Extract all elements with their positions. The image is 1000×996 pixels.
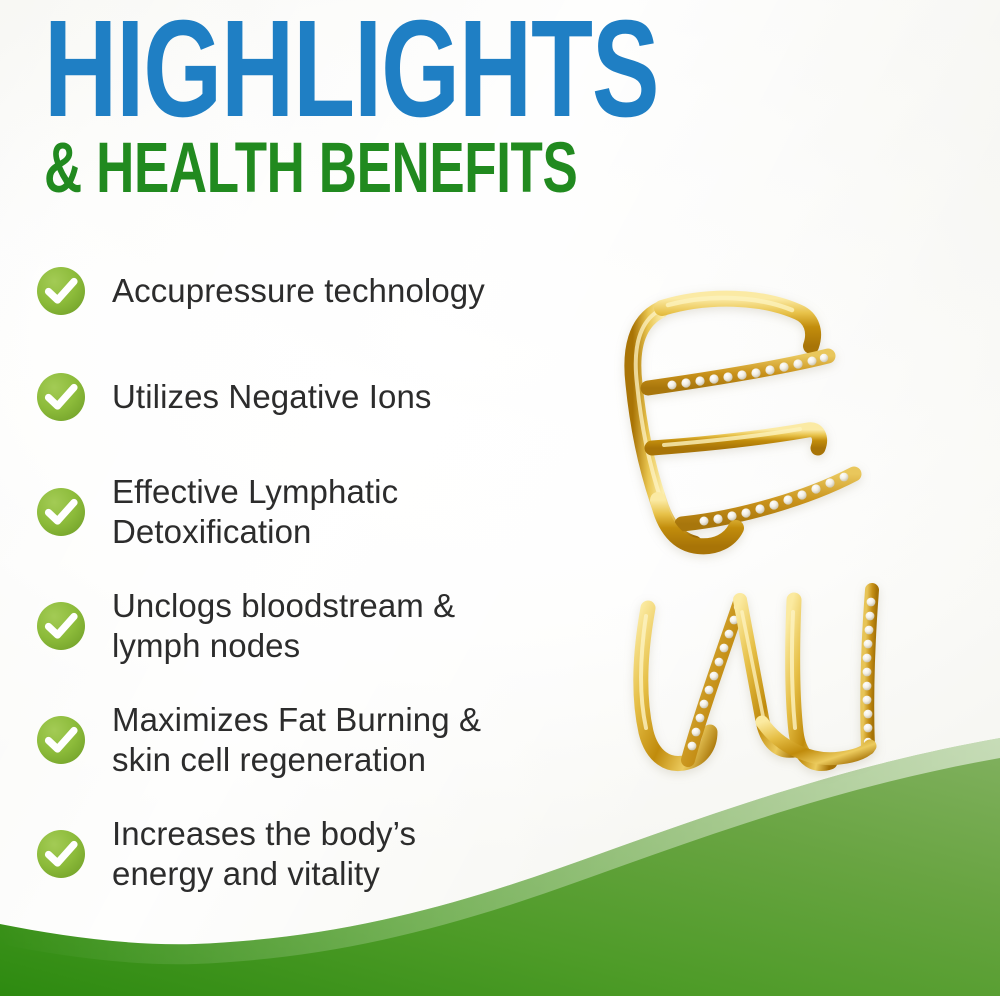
benefit-item: Increases the body’s energy and vitality <box>34 806 554 902</box>
product-highlights-poster: HIGHLIGHTS & HEALTH BENEFITS Accupressur… <box>0 0 1000 996</box>
check-circle-icon <box>36 487 86 537</box>
benefit-label: Accupressure technology <box>112 271 485 311</box>
benefits-list: Accupressure technology Utilizes Negativ… <box>34 252 554 920</box>
benefit-label: Maximizes Fat Burning & skin cell regene… <box>112 700 481 781</box>
benefit-item: Effective Lymphatic Detoxification <box>34 464 554 560</box>
check-circle-icon <box>36 266 86 316</box>
benefit-item: Accupressure technology <box>34 252 554 330</box>
benefit-item: Utilizes Negative Ions <box>34 358 554 436</box>
benefit-item: Maximizes Fat Burning & skin cell regene… <box>34 692 554 788</box>
product-image-gold-ear-cuff-triple-bar <box>612 288 892 558</box>
poster-heading: HIGHLIGHTS & HEALTH BENEFITS <box>44 14 684 199</box>
product-image-gold-ear-cuff-zigzag <box>616 572 916 784</box>
benefit-label: Effective Lymphatic Detoxification <box>112 472 398 553</box>
page-subtitle: & HEALTH BENEFITS <box>44 140 521 198</box>
benefit-label: Increases the body’s energy and vitality <box>112 814 416 895</box>
benefit-item: Unclogs bloodstream & lymph nodes <box>34 578 554 674</box>
check-circle-icon <box>36 829 86 879</box>
benefit-label: Utilizes Negative Ions <box>112 377 432 417</box>
benefit-label: Unclogs bloodstream & lymph nodes <box>112 586 455 667</box>
check-circle-icon <box>36 601 86 651</box>
check-circle-icon <box>36 372 86 422</box>
check-circle-icon <box>36 715 86 765</box>
page-title: HIGHLIGHTS <box>44 14 514 124</box>
